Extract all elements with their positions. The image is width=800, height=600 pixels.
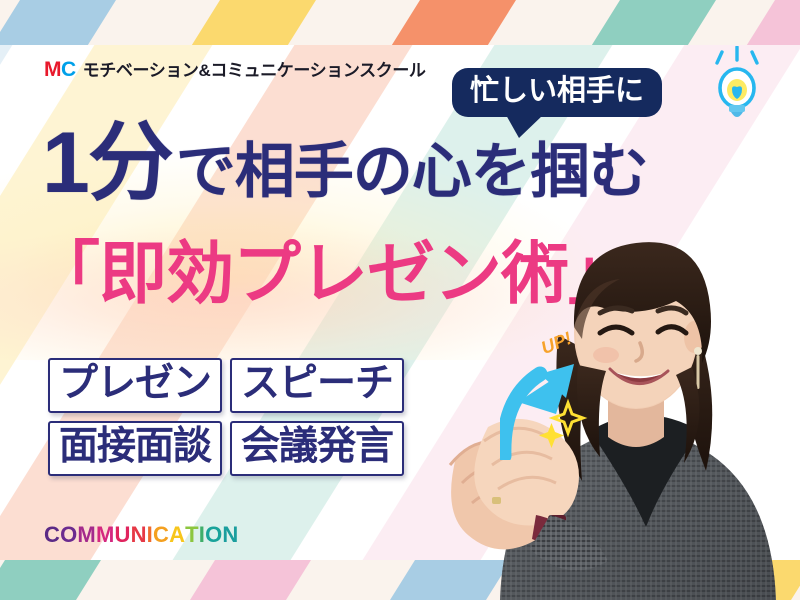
mc-letter-c: C — [61, 58, 76, 81]
wordmark-letter-9: T — [185, 524, 199, 546]
headline-rest: で相手の心を掴む — [172, 142, 648, 202]
wordmark-letter-5: N — [131, 524, 147, 546]
wordmark-letter-8: A — [169, 524, 185, 546]
wordmark-letter-12: N — [222, 524, 238, 546]
mc-letter-m: M — [44, 58, 61, 81]
wordmark-letter-2: M — [77, 524, 96, 546]
headline-emphasis: 1分 — [42, 122, 172, 205]
mc-monogram: MC — [44, 59, 76, 80]
top-stripe-teal — [520, 0, 741, 45]
top-stripe-blue — [0, 0, 141, 45]
wordmark-letter-3: M — [96, 524, 115, 546]
communication-wordmark: COMMUNICATION — [44, 524, 239, 546]
wordmark-letter-7: C — [153, 524, 169, 546]
keyword-box-grid: プレゼン スピーチ 面接面談 会議発言 — [48, 358, 404, 476]
headline: 1分 で相手の心を掴む — [42, 122, 648, 205]
top-stripe-band — [0, 0, 800, 45]
poster-canvas: MC モチベーション&コミュニケーションスクール 忙しい相手に 1分 で相手の心… — [0, 0, 800, 600]
lightbulb-icon — [705, 46, 769, 126]
top-stripe-orange — [320, 0, 541, 45]
wordmark-letter-0: C — [44, 524, 60, 546]
wordmark-letter-1: O — [60, 524, 77, 546]
presenter-photo — [440, 215, 800, 600]
speech-bubble: 忙しい相手に — [452, 68, 662, 117]
top-stripe-yellow — [120, 0, 341, 45]
school-name: モチベーション&コミュニケーションスクール — [83, 62, 426, 79]
wordmark-letter-11: O — [205, 524, 222, 546]
speech-bubble-text: 忙しい相手に — [470, 75, 644, 107]
keyword-box-interview[interactable]: 面接面談 — [48, 421, 222, 476]
keyword-box-speech[interactable]: スピーチ — [230, 358, 404, 413]
bottom-stripe-pink — [115, 560, 336, 600]
keyword-box-meeting[interactable]: 会議発言 — [230, 421, 404, 476]
keyword-box-presentation[interactable]: プレゼン — [48, 358, 222, 413]
wordmark-letter-4: U — [114, 524, 130, 546]
brand-logo: MC モチベーション&コミュニケーションスクール — [44, 59, 426, 80]
bottom-stripe-teal — [0, 560, 126, 600]
